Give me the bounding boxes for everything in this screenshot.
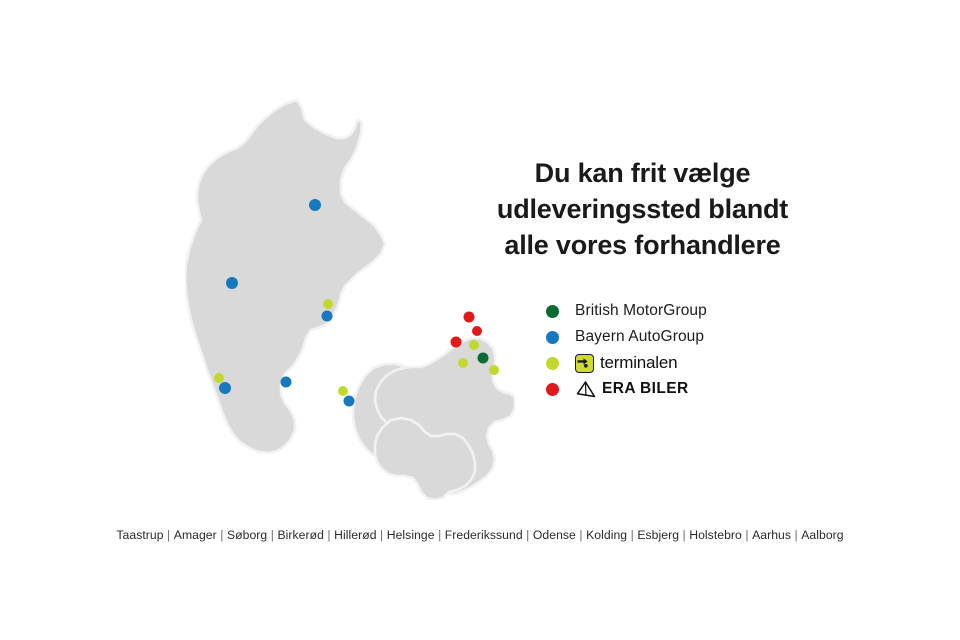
dot-frederikssund[interactable] xyxy=(451,337,462,348)
headline-line-1: Du kan frit vælge xyxy=(470,155,815,191)
city-separator: | xyxy=(377,528,387,542)
city-name: Frederikssund xyxy=(445,528,523,542)
dot-kolding[interactable] xyxy=(281,377,292,388)
dot-esbjerg[interactable] xyxy=(219,382,231,394)
city-name: Amager xyxy=(174,528,217,542)
dot-odense[interactable] xyxy=(344,396,355,407)
city-list: Taastrup|Amager|Søborg|Birkerød|Hillerød… xyxy=(0,528,960,542)
terminalen-mark-icon xyxy=(575,354,594,373)
era-biler-logo: ERA BILER xyxy=(575,380,689,398)
city-separator: | xyxy=(627,528,637,542)
dot-aalborg[interactable] xyxy=(309,199,321,211)
city-name: Søborg xyxy=(227,528,267,542)
city-name: Hillerød xyxy=(334,528,376,542)
era-biler-sail-icon xyxy=(575,381,597,398)
city-separator: | xyxy=(324,528,334,542)
dot-amager-term[interactable] xyxy=(489,365,499,375)
dot-amager-bmg[interactable] xyxy=(478,353,489,364)
terminalen-wordmark: terminalen xyxy=(600,353,677,373)
dot-icon-terminalen xyxy=(546,357,559,370)
legend-item-bayern-autogroup[interactable]: Bayern AutoGroup xyxy=(546,324,876,350)
city-separator: | xyxy=(791,528,801,542)
city-separator: | xyxy=(267,528,277,542)
dot-odense-term[interactable] xyxy=(338,386,348,396)
city-separator: | xyxy=(435,528,445,542)
dot-icon-british-motorgroup xyxy=(546,305,559,318)
headline-line-2: udleveringssted blandt xyxy=(470,191,815,227)
dot-icon-era-biler xyxy=(546,383,559,396)
terminalen-arrow-icon xyxy=(577,357,591,369)
city-separator: | xyxy=(523,528,533,542)
city-separator: | xyxy=(742,528,752,542)
city-name: Holstebro xyxy=(689,528,742,542)
city-name: Kolding xyxy=(586,528,627,542)
legend-label-british-motorgroup: British MotorGroup xyxy=(575,302,707,320)
legend-item-era-biler[interactable]: ERA BILER xyxy=(546,376,876,402)
city-name: Aalborg xyxy=(801,528,843,542)
dot-birkerod[interactable] xyxy=(472,326,482,336)
poster-canvas: Du kan frit vælge udleveringssted blandt… xyxy=(0,0,960,640)
city-name: Odense xyxy=(533,528,576,542)
city-name: Esbjerg xyxy=(637,528,679,542)
headline-line-3: alle vores forhandlere xyxy=(470,227,815,263)
dot-soborg[interactable] xyxy=(469,340,479,350)
dot-hillerod[interactable] xyxy=(464,312,475,323)
legend-item-terminalen[interactable]: terminalen xyxy=(546,350,876,376)
legend-item-british-motorgroup[interactable]: British MotorGroup xyxy=(546,298,876,324)
legend-label-bayern-autogroup: Bayern AutoGroup xyxy=(575,328,704,346)
city-separator: | xyxy=(164,528,174,542)
city-separator: | xyxy=(679,528,689,542)
dot-taastrup[interactable] xyxy=(458,358,468,368)
brand-legend: British MotorGroup Bayern AutoGroup term… xyxy=(546,298,876,402)
dot-aarhus[interactable] xyxy=(322,311,333,322)
dot-holstebro[interactable] xyxy=(226,277,238,289)
era-biler-wordmark: ERA BILER xyxy=(602,380,689,398)
dot-icon-bayern-autogroup xyxy=(546,331,559,344)
page-title: Du kan frit vælge udleveringssted blandt… xyxy=(470,155,815,263)
city-name: Taastrup xyxy=(116,528,163,542)
city-name: Aarhus xyxy=(752,528,791,542)
city-name: Helsinge xyxy=(387,528,435,542)
city-separator: | xyxy=(576,528,586,542)
city-separator: | xyxy=(217,528,227,542)
dot-aarhus-term[interactable] xyxy=(323,299,333,309)
city-name: Birkerød xyxy=(277,528,323,542)
terminalen-logo: terminalen xyxy=(575,353,677,373)
